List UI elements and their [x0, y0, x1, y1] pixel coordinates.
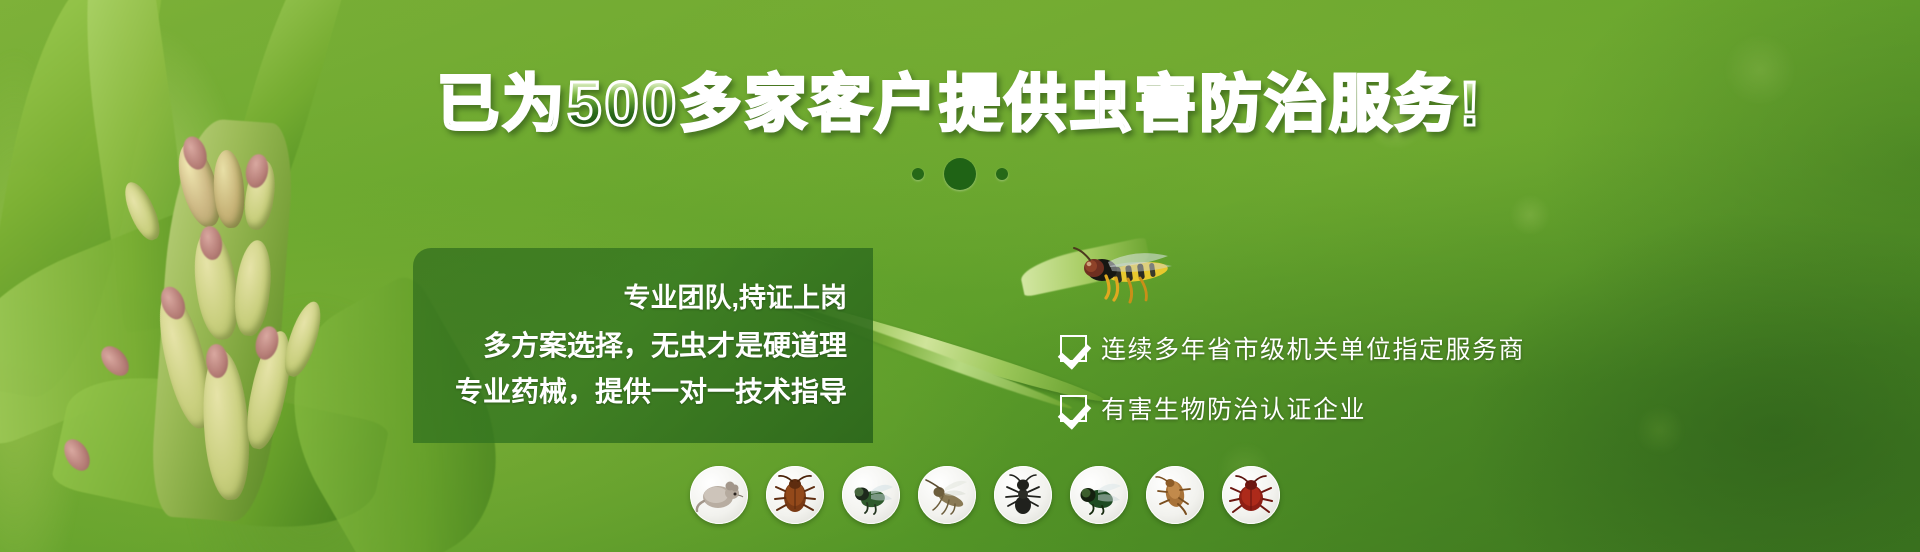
checklist-item: 连续多年省市级机关单位指定服务商: [1060, 330, 1525, 366]
promo-banner: 已为500多家客户提供虫害防治服务! 专业团队,持证上岗 多方案选择，无虫才是硬…: [0, 0, 1920, 552]
dot-large-center: [944, 158, 976, 190]
bedbug-icon: [1222, 466, 1280, 524]
cockroach-icon: [766, 466, 824, 524]
hoverfly-icon: [1050, 246, 1180, 306]
feature-panel: 专业团队,持证上岗 多方案选择，无虫才是硬道理 专业药械，提供一对一技术指导: [413, 248, 873, 443]
checkbox-checked-icon: [1060, 395, 1087, 422]
feature-panel-line-1: 专业团队,持证上岗: [413, 283, 847, 314]
checklist-item: 有害生物防治认证企业: [1060, 390, 1525, 426]
checklist-item-label: 有害生物防治认证企业: [1101, 390, 1366, 426]
dot-small-right: [996, 168, 1008, 180]
checkbox-checked-icon: [1060, 335, 1087, 362]
decorative-dots: [0, 158, 1920, 190]
flea-icon: [1146, 466, 1204, 524]
checklist-item-label: 连续多年省市级机关单位指定服务商: [1101, 330, 1525, 366]
mosquito-icon: [918, 466, 976, 524]
dot-small-left: [912, 168, 924, 180]
feature-panel-line-2: 多方案选择，无虫才是硬道理: [413, 330, 847, 362]
rat-icon: [690, 466, 748, 524]
banner-headline: 已为500多家客户提供虫害防治服务!: [0, 74, 1920, 136]
ant-icon: [994, 466, 1052, 524]
housefly-icon: [1070, 466, 1128, 524]
pest-type-icons: [690, 466, 1280, 524]
feature-panel-line-3: 专业药械，提供一对一技术指导: [413, 376, 847, 408]
fly-icon: [842, 466, 900, 524]
credentials-checklist: 连续多年省市级机关单位指定服务商 有害生物防治认证企业: [1060, 330, 1525, 426]
